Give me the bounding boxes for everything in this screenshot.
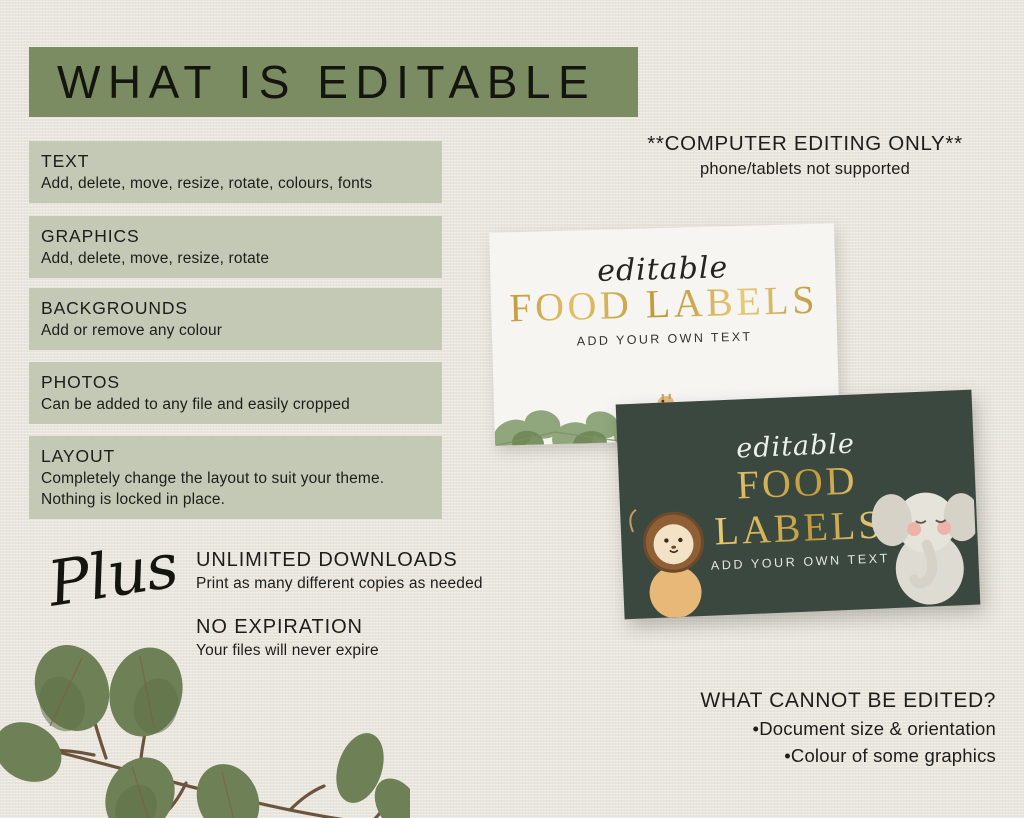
feature-box-photos: PHOTOS Can be added to any file and easi… bbox=[29, 362, 442, 424]
plus-sub-unlimited-downloads: Print as many different copies as needed bbox=[196, 573, 556, 594]
feature-box-backgrounds: BACKGROUNDS Add or remove any colour bbox=[29, 288, 442, 350]
feature-title-graphics: GRAPHICS bbox=[41, 225, 442, 248]
elephant-icon bbox=[867, 455, 978, 609]
feature-title-photos: PHOTOS bbox=[41, 371, 442, 394]
lion-icon bbox=[627, 470, 723, 619]
feature-desc-backgrounds: Add or remove any colour bbox=[41, 320, 442, 341]
cannot-be-edited-notice: WHAT CANNOT BE EDITED? •Document size & … bbox=[576, 686, 996, 769]
feature-title-layout: LAYOUT bbox=[41, 445, 442, 468]
food-label-card-dark: editable FOOD LABELS ADD YOUR OWN TEXT bbox=[616, 390, 981, 620]
computer-editing-notice-heading: **COMPUTER EDITING ONLY** bbox=[605, 130, 1005, 157]
page-title: WHAT IS EDITABLE bbox=[57, 52, 657, 112]
computer-editing-notice: **COMPUTER EDITING ONLY** phone/tablets … bbox=[605, 130, 1005, 181]
feature-box-text: TEXT Add, delete, move, resize, rotate, … bbox=[29, 141, 442, 203]
card-white-subtitle: ADD YOUR OWN TEXT bbox=[492, 327, 837, 351]
feature-desc-text: Add, delete, move, resize, rotate, colou… bbox=[41, 173, 442, 194]
feature-box-graphics: GRAPHICS Add, delete, move, resize, rota… bbox=[29, 216, 442, 278]
card-white-title: FOOD LABELS bbox=[491, 275, 837, 332]
feature-desc-layout-line1: Completely change the layout to suit you… bbox=[41, 468, 442, 489]
computer-editing-notice-subtext: phone/tablets not supported bbox=[605, 157, 1005, 181]
plus-item-no-expiration: NO EXPIRATION Your files will never expi… bbox=[196, 615, 556, 661]
cannot-be-edited-item-document-size: •Document size & orientation bbox=[576, 715, 996, 742]
cannot-be-edited-heading: WHAT CANNOT BE EDITED? bbox=[576, 686, 996, 715]
plus-benefits-list: UNLIMITED DOWNLOADS Print as many differ… bbox=[196, 548, 556, 682]
feature-desc-graphics: Add, delete, move, resize, rotate bbox=[41, 248, 442, 269]
plus-sub-no-expiration: Your files will never expire bbox=[196, 640, 556, 661]
feature-desc-layout-line2: Nothing is locked in place. bbox=[41, 489, 442, 510]
cannot-be-edited-item-colour-graphics: •Colour of some graphics bbox=[576, 742, 996, 769]
plus-item-unlimited-downloads: UNLIMITED DOWNLOADS Print as many differ… bbox=[196, 548, 556, 594]
feature-box-layout: LAYOUT Completely change the layout to s… bbox=[29, 436, 442, 519]
feature-title-backgrounds: BACKGROUNDS bbox=[41, 297, 442, 320]
feature-title-text: TEXT bbox=[41, 150, 442, 173]
plus-head-unlimited-downloads: UNLIMITED DOWNLOADS bbox=[196, 548, 556, 573]
feature-desc-photos: Can be added to any file and easily crop… bbox=[41, 394, 442, 415]
plus-head-no-expiration: NO EXPIRATION bbox=[196, 615, 556, 640]
